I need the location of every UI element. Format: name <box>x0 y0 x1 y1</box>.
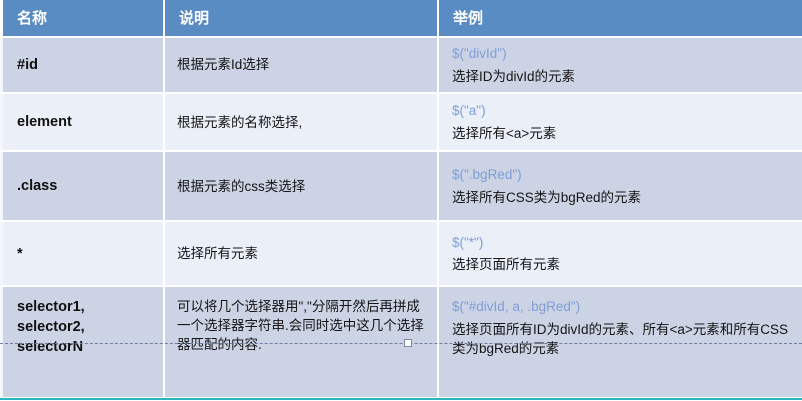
cell-example: $("divId") 选择ID为divId的元素 <box>437 38 802 94</box>
jquery-selector-table: 名称 说明 举例 #id 根据元素Id选择 $("divId") 选择ID为di… <box>0 0 802 399</box>
table-row: * 选择所有元素 $("*") 选择页面所有元素 <box>0 222 802 287</box>
cell-example: $(".bgRed") 选择所有CSS类为bgRed的元素 <box>437 152 802 222</box>
cell-description: 根据元素的css类选择 <box>163 152 437 222</box>
cell-selector-name: * <box>0 222 163 287</box>
example-code: $(".bgRed") <box>452 165 792 185</box>
column-header-name: 名称 <box>0 0 163 38</box>
table-row: #id 根据元素Id选择 $("divId") 选择ID为divId的元素 <box>0 38 802 94</box>
cell-description: 选择所有元素 <box>163 222 437 287</box>
example-code: $("divId") <box>452 44 792 64</box>
cell-selector-name: .class <box>0 152 163 222</box>
cell-description: 根据元素Id选择 <box>163 38 437 94</box>
example-code: $("*") <box>452 233 792 253</box>
example-description: 选择ID为divId的元素 <box>452 67 792 87</box>
example-description: 选择页面所有元素 <box>452 255 792 275</box>
table-header: 名称 说明 举例 <box>0 0 802 38</box>
table-row: .class 根据元素的css类选择 $(".bgRed") 选择所有CSS类为… <box>0 152 802 222</box>
column-header-description: 说明 <box>163 0 437 38</box>
table-row: element 根据元素的名称选择, $("a") 选择所有<a>元素 <box>0 94 802 152</box>
example-description: 选择所有<a>元素 <box>452 124 792 144</box>
column-header-example: 举例 <box>437 0 802 38</box>
cell-example: $("#divId, a, .bgRed") 选择页面所有ID为divId的元素… <box>437 287 802 399</box>
example-description: 选择页面所有ID为divId的元素、所有<a>元素和所有CSS类为bgRed的元… <box>452 320 792 359</box>
example-code: $("a") <box>452 101 792 121</box>
cell-selector-name: element <box>0 94 163 152</box>
example-description: 选择所有CSS类为bgRed的元素 <box>452 188 792 208</box>
cell-description: 可以将几个选择器用","分隔开然后再拼成一个选择器字符串.会同时选中这几个选择器… <box>163 287 437 399</box>
example-code: $("#divId, a, .bgRed") <box>452 297 792 317</box>
header-row: 名称 说明 举例 <box>0 0 802 38</box>
cell-example: $("a") 选择所有<a>元素 <box>437 94 802 152</box>
cell-description: 根据元素的名称选择, <box>163 94 437 152</box>
cell-selector-name: selector1, selector2, selectorN <box>0 287 163 399</box>
table-body: #id 根据元素Id选择 $("divId") 选择ID为divId的元素 el… <box>0 38 802 399</box>
selection-handle[interactable] <box>404 339 412 347</box>
cell-selector-name: #id <box>0 38 163 94</box>
slide-canvas: 名称 说明 举例 #id 根据元素Id选择 $("divId") 选择ID为di… <box>0 0 802 401</box>
bottom-accent-rule <box>0 398 802 400</box>
cell-example: $("*") 选择页面所有元素 <box>437 222 802 287</box>
table-row: selector1, selector2, selectorN 可以将几个选择器… <box>0 287 802 399</box>
